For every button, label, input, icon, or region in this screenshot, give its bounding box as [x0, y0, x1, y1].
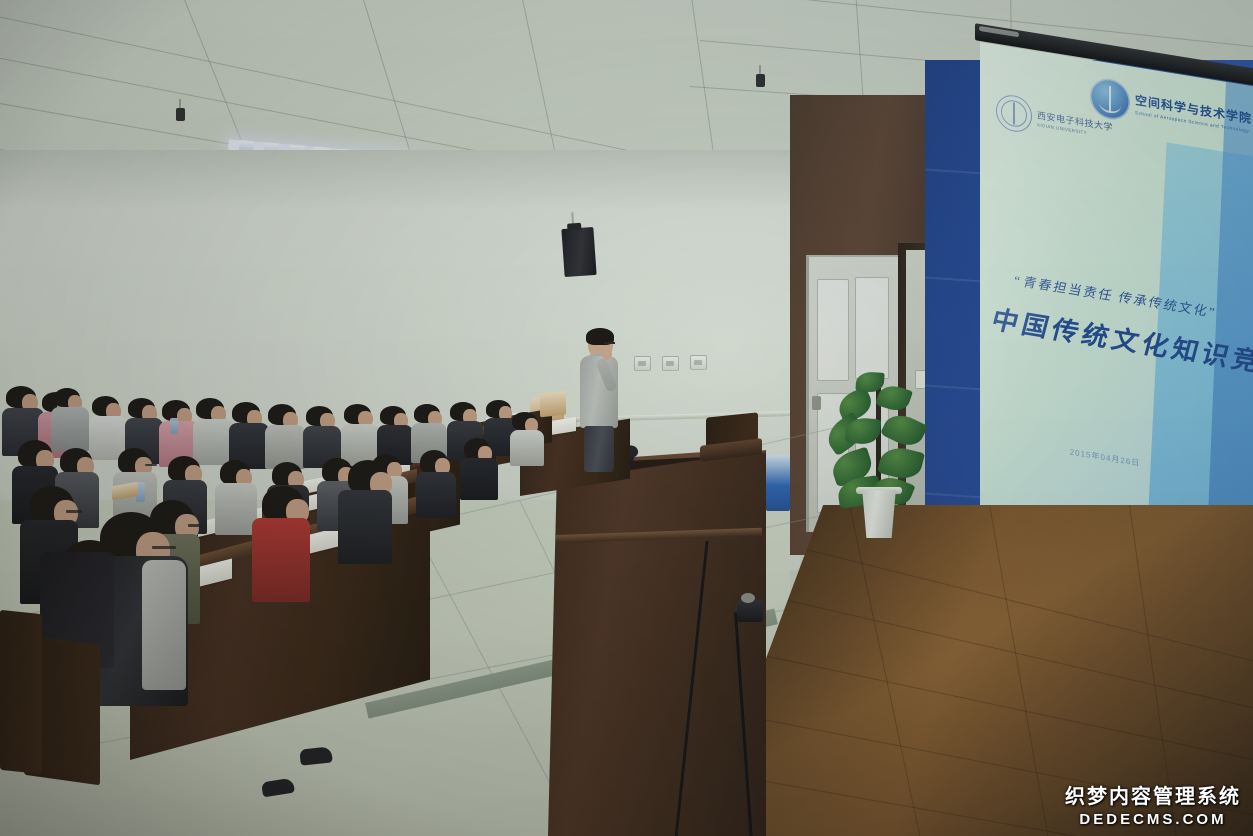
student-vest [142, 560, 186, 690]
watermark: 织梦内容管理系统 DEDECMS.COM [1065, 786, 1241, 828]
presenter-legs [584, 426, 614, 472]
wall-outlet[interactable] [690, 355, 707, 370]
presenter-hand [602, 348, 612, 360]
wooden-podium [548, 450, 766, 836]
desk-books [540, 391, 566, 418]
watermark-en: DEDECMS.COM [1065, 811, 1241, 828]
presenter-person [578, 330, 624, 470]
student-glasses-icon [152, 546, 176, 549]
wall-ceiling-shadow [0, 150, 800, 210]
student-chair [0, 610, 42, 774]
blue-equipment-box [766, 455, 790, 511]
presenter-glasses-icon [604, 342, 615, 344]
ceiling-sprinkler-icon [756, 74, 765, 87]
desk-bottle [170, 418, 178, 434]
wall-speaker-icon [561, 227, 596, 277]
ceiling-sprinkler-icon [176, 108, 185, 121]
screen-glare [980, 42, 1253, 587]
shoe [299, 746, 332, 765]
wall-outlet[interactable] [662, 356, 679, 371]
projection-screen: 西安电子科技大学 XIDIAN UNIVERSITY 空间科学与技术学院 Sch… [980, 42, 1253, 587]
projected-slide: 西安电子科技大学 XIDIAN UNIVERSITY 空间科学与技术学院 Sch… [980, 42, 1253, 587]
classroom-photograph: 西安电子科技大学 XIDIAN UNIVERSITY 空间科学与技术学院 Sch… [0, 0, 1253, 836]
wall-outlet[interactable] [634, 356, 651, 371]
watermark-cn: 织梦内容管理系统 [1065, 786, 1241, 809]
door-handle-icon[interactable] [812, 396, 821, 410]
floor-power-outlet [737, 600, 763, 622]
